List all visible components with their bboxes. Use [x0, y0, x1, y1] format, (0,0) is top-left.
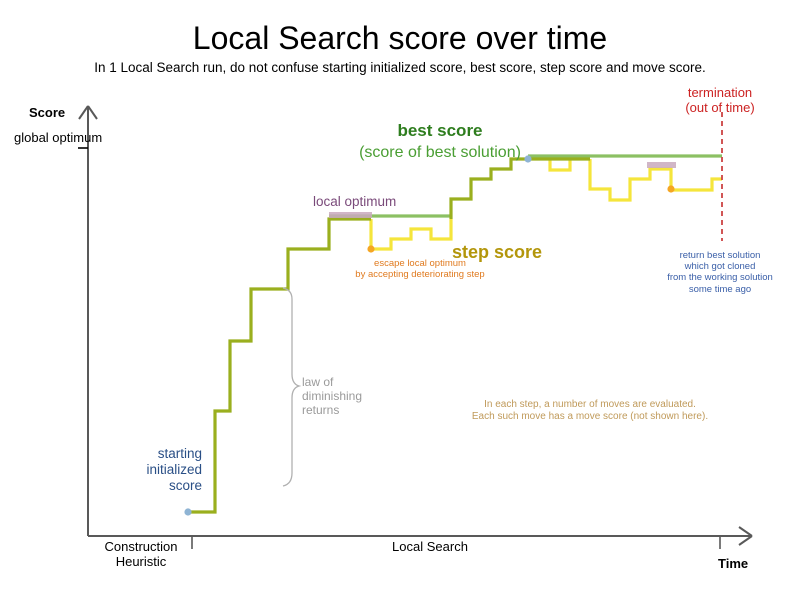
x-axis-phase-local-search: Local Search — [340, 539, 520, 554]
move-score-note: In each step, a number of moves are eval… — [440, 399, 740, 423]
escape-dot-1 — [367, 245, 374, 252]
diagram-canvas: Local Search score over time In 1 Local … — [0, 0, 800, 600]
return-best-solution-note: return best solution which got cloned fr… — [650, 250, 790, 295]
step-score-line — [371, 159, 722, 249]
y-axis-tick-label: global optimum — [14, 130, 78, 145]
diminishing-returns-brace — [283, 288, 299, 486]
escape-dot-2 — [667, 185, 674, 192]
best-score-annotation: best score — [300, 121, 580, 141]
x-axis-phase-construction: Construction Heuristic — [78, 539, 204, 570]
escape-local-optimum-note: escape local optimum by accepting deteri… — [300, 258, 540, 280]
local-optimum-annotation: local optimum — [313, 194, 396, 210]
y-axis — [78, 106, 97, 536]
data-point-markers — [184, 155, 674, 515]
x-axis-label: Time — [718, 556, 748, 571]
page-title: Local Search score over time — [0, 20, 800, 58]
y-axis-label: Score — [29, 105, 65, 120]
working-solution-line — [188, 159, 590, 512]
termination-annotation: termination (out of time) — [655, 85, 785, 116]
starting-score-dot — [184, 508, 191, 515]
page-subtitle: In 1 Local Search run, do not confuse st… — [0, 60, 800, 76]
starting-score-annotation: starting initialized score — [96, 446, 202, 494]
best-score-subtitle-annotation: (score of best solution) — [290, 144, 590, 163]
diminishing-returns-note: law of diminishing returns — [302, 375, 362, 417]
